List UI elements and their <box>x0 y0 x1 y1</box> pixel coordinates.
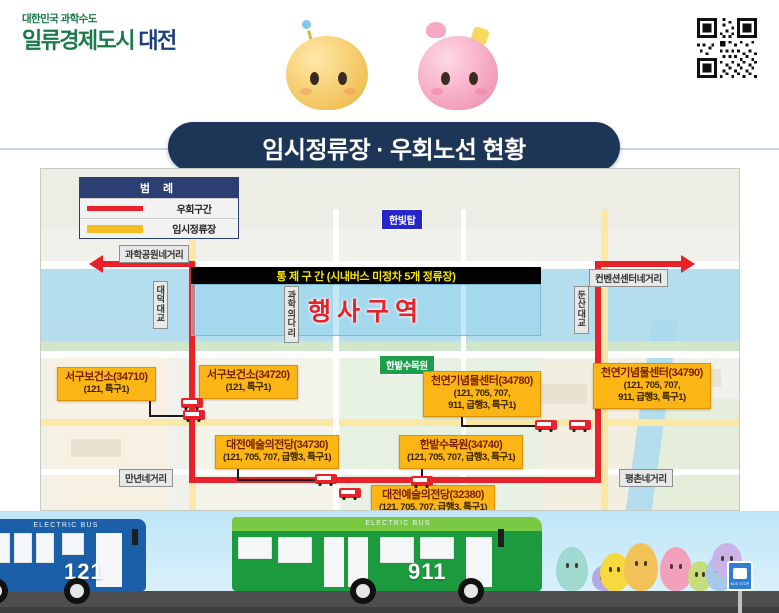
bus-window <box>62 533 84 555</box>
bus-number: 911 <box>408 559 447 585</box>
stop-34790[interactable]: 천연기념물센터(34790) (121, 705, 707, 911, 급행3,… <box>593 363 711 409</box>
stop-name: 대전예술의전당(34730) <box>223 439 331 452</box>
legend-label-detour: 우회구간 <box>150 201 238 216</box>
road-main-east-west <box>41 419 740 426</box>
legend: 범 례 우회구간 임시정류장 <box>79 177 239 239</box>
bus-stop-marker-34720 <box>181 397 203 410</box>
road-main-east <box>601 209 608 511</box>
poi-hanbit-tower: 한빛탑 <box>381 209 423 230</box>
mascot-yellow <box>286 30 368 110</box>
stop-routes-2: 911, 급행3, 특구1) <box>431 400 533 412</box>
bus-stop-caption: BUS STOP <box>729 582 751 586</box>
node-mannyeon: 만년네거리 <box>119 469 173 487</box>
stop-34730[interactable]: 대전예술의전당(34730) (121, 705, 707, 급행3, 특구1) <box>215 435 339 469</box>
detour-arrow-west <box>89 255 103 273</box>
bottom-illustration: ELECTRIC BUS 121 ELECTRIC BUS 911 <box>0 511 779 613</box>
stop-32380[interactable]: 대전예술의전당(32380) (121, 705, 707, 급행3, 특구1) <box>371 485 495 511</box>
stop-routes: (121, 705, 707, <box>431 388 533 400</box>
stop-routes: (121, 705, 707, 급행3, 특구1) <box>407 452 515 464</box>
legend-swatch-yellow <box>80 225 150 233</box>
mascot-body <box>286 36 368 110</box>
map-container[interactable]: 범 례 우회구간 임시정류장 통 제 구 간 (시내버스 미정차 5개 정류장)… <box>40 168 740 511</box>
legend-item-temp-stop: 임시정류장 <box>80 218 238 238</box>
bus-mirror <box>132 529 138 545</box>
mascot-eye-right <box>469 72 478 85</box>
mascot-body <box>418 36 498 110</box>
bus-wheel <box>458 578 484 604</box>
mascot-blush-right <box>344 88 356 95</box>
bus-roof-sign: ELECTRIC BUS <box>318 520 478 527</box>
stop-routes: (121, 특구1) <box>207 382 290 394</box>
bus-roof-sign: ELECTRIC BUS <box>0 522 146 529</box>
bus-window <box>278 537 312 563</box>
bus-mirror <box>498 529 504 547</box>
bus-wheel <box>64 578 90 604</box>
logo-subtitle: 대한민국 과학수도 <box>22 14 176 26</box>
mascot-ribbon <box>426 22 446 38</box>
mascot-crowd-member <box>624 543 658 591</box>
bus-stop-marker-34790 <box>569 419 591 432</box>
leader-34730b <box>237 479 321 481</box>
stop-routes: (121, 특구1) <box>65 384 148 396</box>
stop-name: 대전예술의전당(32380) <box>379 489 487 502</box>
bus-window <box>420 537 454 559</box>
mascot-eye-left <box>441 72 450 85</box>
stop-name: 천연기념물센터(34780) <box>431 375 533 388</box>
mascot-eye-left <box>310 72 319 85</box>
control-zone-banner: 통 제 구 간 (시내버스 미정차 5개 정류장) <box>191 267 541 284</box>
bus-blue: ELECTRIC BUS 121 <box>0 519 146 591</box>
mascot-crowd-member <box>660 547 692 591</box>
stop-routes: (121, 705, 707, 급행3, 특구1) <box>223 452 331 464</box>
leader-34780b <box>461 425 541 427</box>
bus-window <box>14 533 32 563</box>
legend-heading: 범 례 <box>80 178 238 198</box>
stop-name: 서구보건소(34720) <box>207 369 290 382</box>
event-zone-label: 행사구역 <box>308 292 424 328</box>
bus-stop-marker-34780 <box>535 419 557 432</box>
stop-34740[interactable]: 한밭수목원(34740) (121, 705, 707, 급행3, 특구1) <box>399 435 523 469</box>
mascot-blush-right <box>475 88 487 95</box>
bus-door <box>324 537 344 587</box>
stop-name: 한밭수목원(34740) <box>407 439 515 452</box>
header: 대한민국 과학수도 일류경제도시 대전 <box>0 0 779 118</box>
bus-wheel <box>350 578 376 604</box>
bus-stop-marker-32380 <box>339 487 361 500</box>
mascot-pink <box>418 28 498 110</box>
bridge-daedeok: 대덕대교 <box>153 281 168 329</box>
logo-title-green: 일류경제도시 <box>22 28 134 53</box>
stop-34780[interactable]: 천연기념물센터(34780) (121, 705, 707, 911, 급행3,… <box>423 371 541 417</box>
mascot-eye-right <box>338 72 347 85</box>
stop-routes-2: 911, 급행3, 특구1) <box>601 392 703 404</box>
legend-swatch-red <box>80 206 150 211</box>
bridge-dunsan: 둔산대교 <box>574 286 589 334</box>
qr-code[interactable] <box>697 18 757 78</box>
logo-title: 일류경제도시 대전 <box>22 28 176 53</box>
mascot-ball <box>300 18 313 31</box>
logo-title-blue: 대전 <box>138 28 175 53</box>
page-title: 임시정류장 · 우회노선 현황 <box>168 122 620 172</box>
detour-segment-northeast <box>595 261 685 267</box>
detour-arrow-east <box>681 255 695 273</box>
stop-name: 천연기념물센터(34790) <box>601 367 703 380</box>
node-pyeongchon: 평촌네거리 <box>619 469 673 487</box>
bus-window <box>36 533 54 563</box>
bus-stop-marker-34740 <box>411 475 433 488</box>
legend-label-temp-stop: 임시정류장 <box>150 221 238 236</box>
poster-root: 대한민국 과학수도 일류경제도시 대전 <box>0 0 779 613</box>
bus-stop-sign: BUS STOP <box>727 561 753 591</box>
bus-icon <box>733 568 747 579</box>
stop-34720[interactable]: 서구보건소(34720) (121, 특구1) <box>199 365 298 399</box>
bus-stop-pole <box>738 589 742 613</box>
mascot-blush-left <box>431 88 443 95</box>
map-building <box>541 384 587 404</box>
city-logo: 대한민국 과학수도 일류경제도시 대전 <box>22 14 176 53</box>
stop-34710[interactable]: 서구보건소(34710) (121, 특구1) <box>57 367 156 401</box>
bus-stop-marker-34730 <box>315 473 337 486</box>
event-zone: 행사구역 <box>191 284 541 336</box>
stop-name: 서구보건소(34710) <box>65 371 148 384</box>
stop-routes: (121, 705, 707, 급행3, 특구1) <box>379 502 487 511</box>
mascot-blush-left <box>300 88 312 95</box>
map-building <box>71 439 121 457</box>
road-ground <box>0 591 779 613</box>
stop-routes: (121, 705, 707, <box>601 380 703 392</box>
bridge-gwahak: 과학의다리 <box>284 286 299 343</box>
node-science-park: 과학공원네거리 <box>119 245 189 263</box>
node-convention-center: 컨벤션센터네거리 <box>589 269 668 287</box>
bus-window <box>238 537 272 559</box>
legend-item-detour: 우회구간 <box>80 198 238 218</box>
mascot-crowd-member <box>556 547 588 591</box>
bus-window <box>0 533 10 563</box>
bus-stop-marker-34710 <box>183 409 205 422</box>
bus-green: ELECTRIC BUS 911 <box>232 517 542 591</box>
